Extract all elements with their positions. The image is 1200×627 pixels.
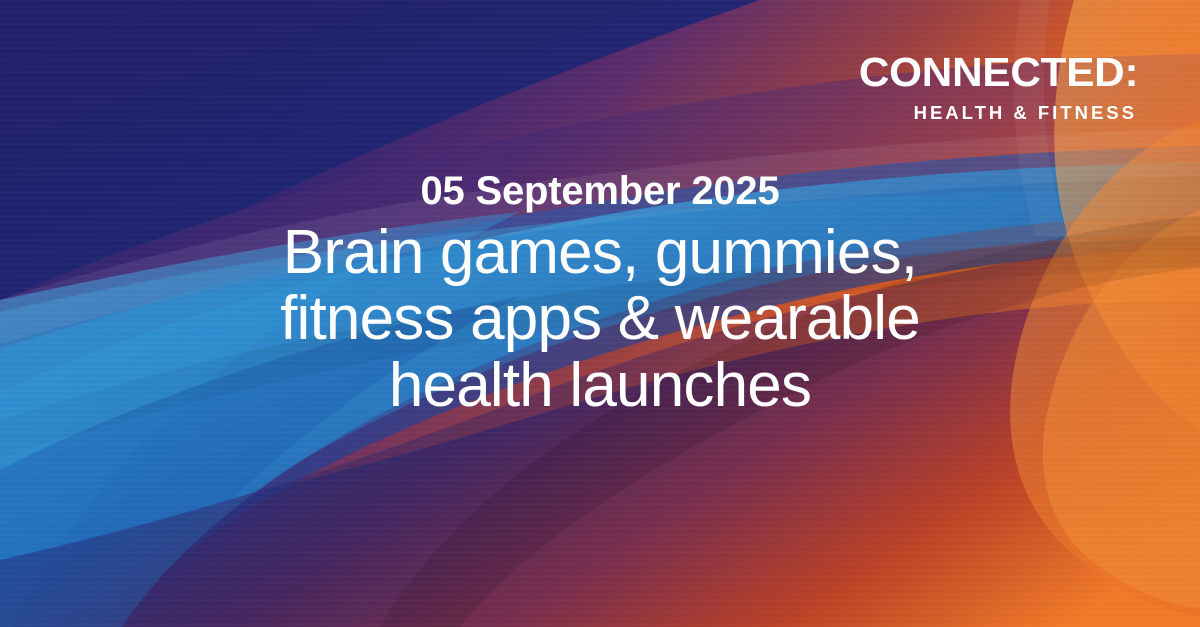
publish-date: 05 September 2025 [40, 168, 1160, 214]
title-line-1: Brain games, gummies, [40, 220, 1160, 286]
brand-tagline: HEALTH & FITNESS [867, 104, 1138, 123]
headline-block: 05 September 2025 Brain games, gummies, … [0, 168, 1200, 419]
banner-content: CONNECTED: HEALTH & FITNESS 05 September… [0, 0, 1200, 627]
title-line-2: fitness apps & wearable [40, 286, 1160, 352]
brand-logo[interactable]: CONNECTED: HEALTH & FITNESS [867, 52, 1138, 123]
page-title: Brain games, gummies, fitness apps & wea… [40, 220, 1160, 419]
brand-wordmark: CONNECTED: [859, 52, 1138, 93]
title-line-3: health launches [40, 353, 1160, 419]
article-banner: CONNECTED: HEALTH & FITNESS 05 September… [0, 0, 1200, 627]
